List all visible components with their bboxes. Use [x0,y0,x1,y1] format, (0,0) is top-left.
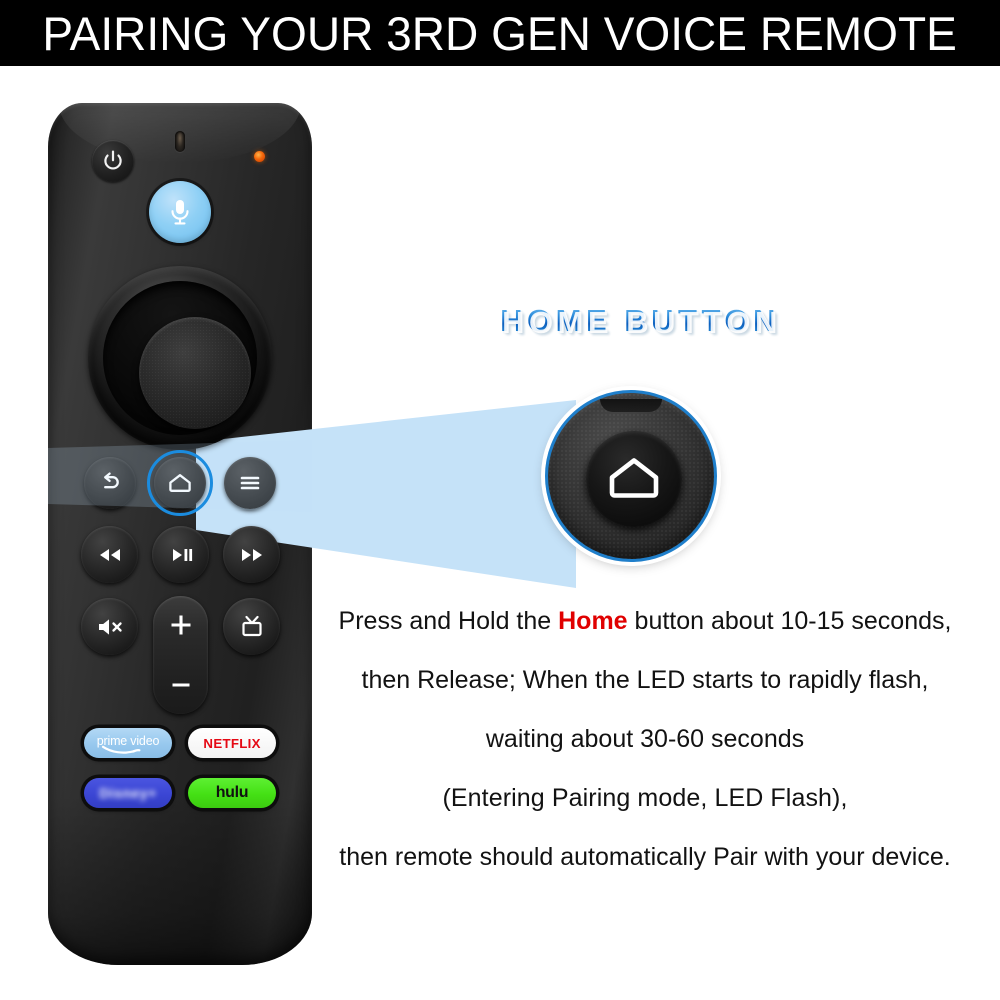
power-button[interactable] [92,140,134,182]
instruction-line-3: waiting about 30-60 seconds [300,710,990,769]
rewind-icon [95,546,125,564]
volume-rocker[interactable] [153,596,208,714]
volume-up-button[interactable] [153,612,208,638]
instruction-line-5: then remote should automatically Pair wi… [300,828,990,887]
fast-forward-button[interactable] [223,526,280,583]
home-icon [606,454,662,504]
disney-plus-button[interactable]: Disney+ [84,778,172,808]
fast-forward-icon [237,546,267,564]
control-button-row [48,598,312,718]
hamburger-menu-icon [237,473,263,493]
home-icon [167,471,193,495]
minus-icon [168,681,194,689]
plus-icon [168,612,194,638]
mute-button[interactable] [81,598,138,655]
netflix-label: NETFLIX [203,736,260,751]
microphone-hole-icon [175,131,185,152]
microphone-icon [167,197,193,227]
tv-button[interactable] [223,598,280,655]
instruction-line-1: Press and Hold the Home button about 10-… [300,592,990,651]
menu-button[interactable] [224,457,276,509]
app-shortcut-row: prime video NETFLIX Disney+ hulu [48,728,312,828]
led-indicator [254,151,265,162]
instruction-line-1-post: button about 10-15 seconds, [628,607,952,635]
callout-title: HOME BUTTON [480,303,800,339]
dpad-select-button[interactable] [139,317,251,429]
netflix-button[interactable]: NETFLIX [188,728,276,758]
magnified-home-inner [586,431,682,527]
magnifier-notch [600,399,662,412]
play-pause-icon [167,546,195,564]
instruction-line-1-pre: Press and Hold the [339,607,559,635]
instruction-line-4: (Entering Pairing mode, LED Flash), [300,769,990,828]
transport-button-row [48,526,312,584]
magnified-home-button[interactable] [545,390,717,562]
home-button[interactable] [154,457,206,509]
rewind-button[interactable] [81,526,138,583]
page-root: PAIRING YOUR 3RD GEN VOICE REMOTE [0,0,1000,1000]
dpad-ring [103,281,257,435]
prime-video-button[interactable]: prime video [84,728,172,758]
remote-body: prime video NETFLIX Disney+ hulu [48,103,312,965]
hulu-button[interactable]: hulu [188,778,276,808]
play-pause-button[interactable] [152,526,209,583]
mute-icon [95,615,125,639]
nav-button-row [48,457,312,517]
voice-button[interactable] [149,181,211,243]
disney-plus-label: Disney+ [99,785,157,801]
power-icon [101,149,125,173]
instructions-block: Press and Hold the Home button about 10-… [300,592,990,887]
dpad-navigation-ring[interactable] [88,266,272,450]
header-banner: PAIRING YOUR 3RD GEN VOICE REMOTE [0,0,1000,66]
page-title: PAIRING YOUR 3RD GEN VOICE REMOTE [43,10,958,57]
volume-down-button[interactable] [153,672,208,698]
tv-icon [238,614,266,640]
prime-smile-icon [100,745,156,754]
instruction-line-2: then Release; When the LED starts to rap… [300,651,990,710]
back-button[interactable] [84,457,136,509]
instruction-home-highlight: Home [558,607,627,635]
hulu-label: hulu [216,784,249,802]
back-arrow-icon [97,470,123,496]
